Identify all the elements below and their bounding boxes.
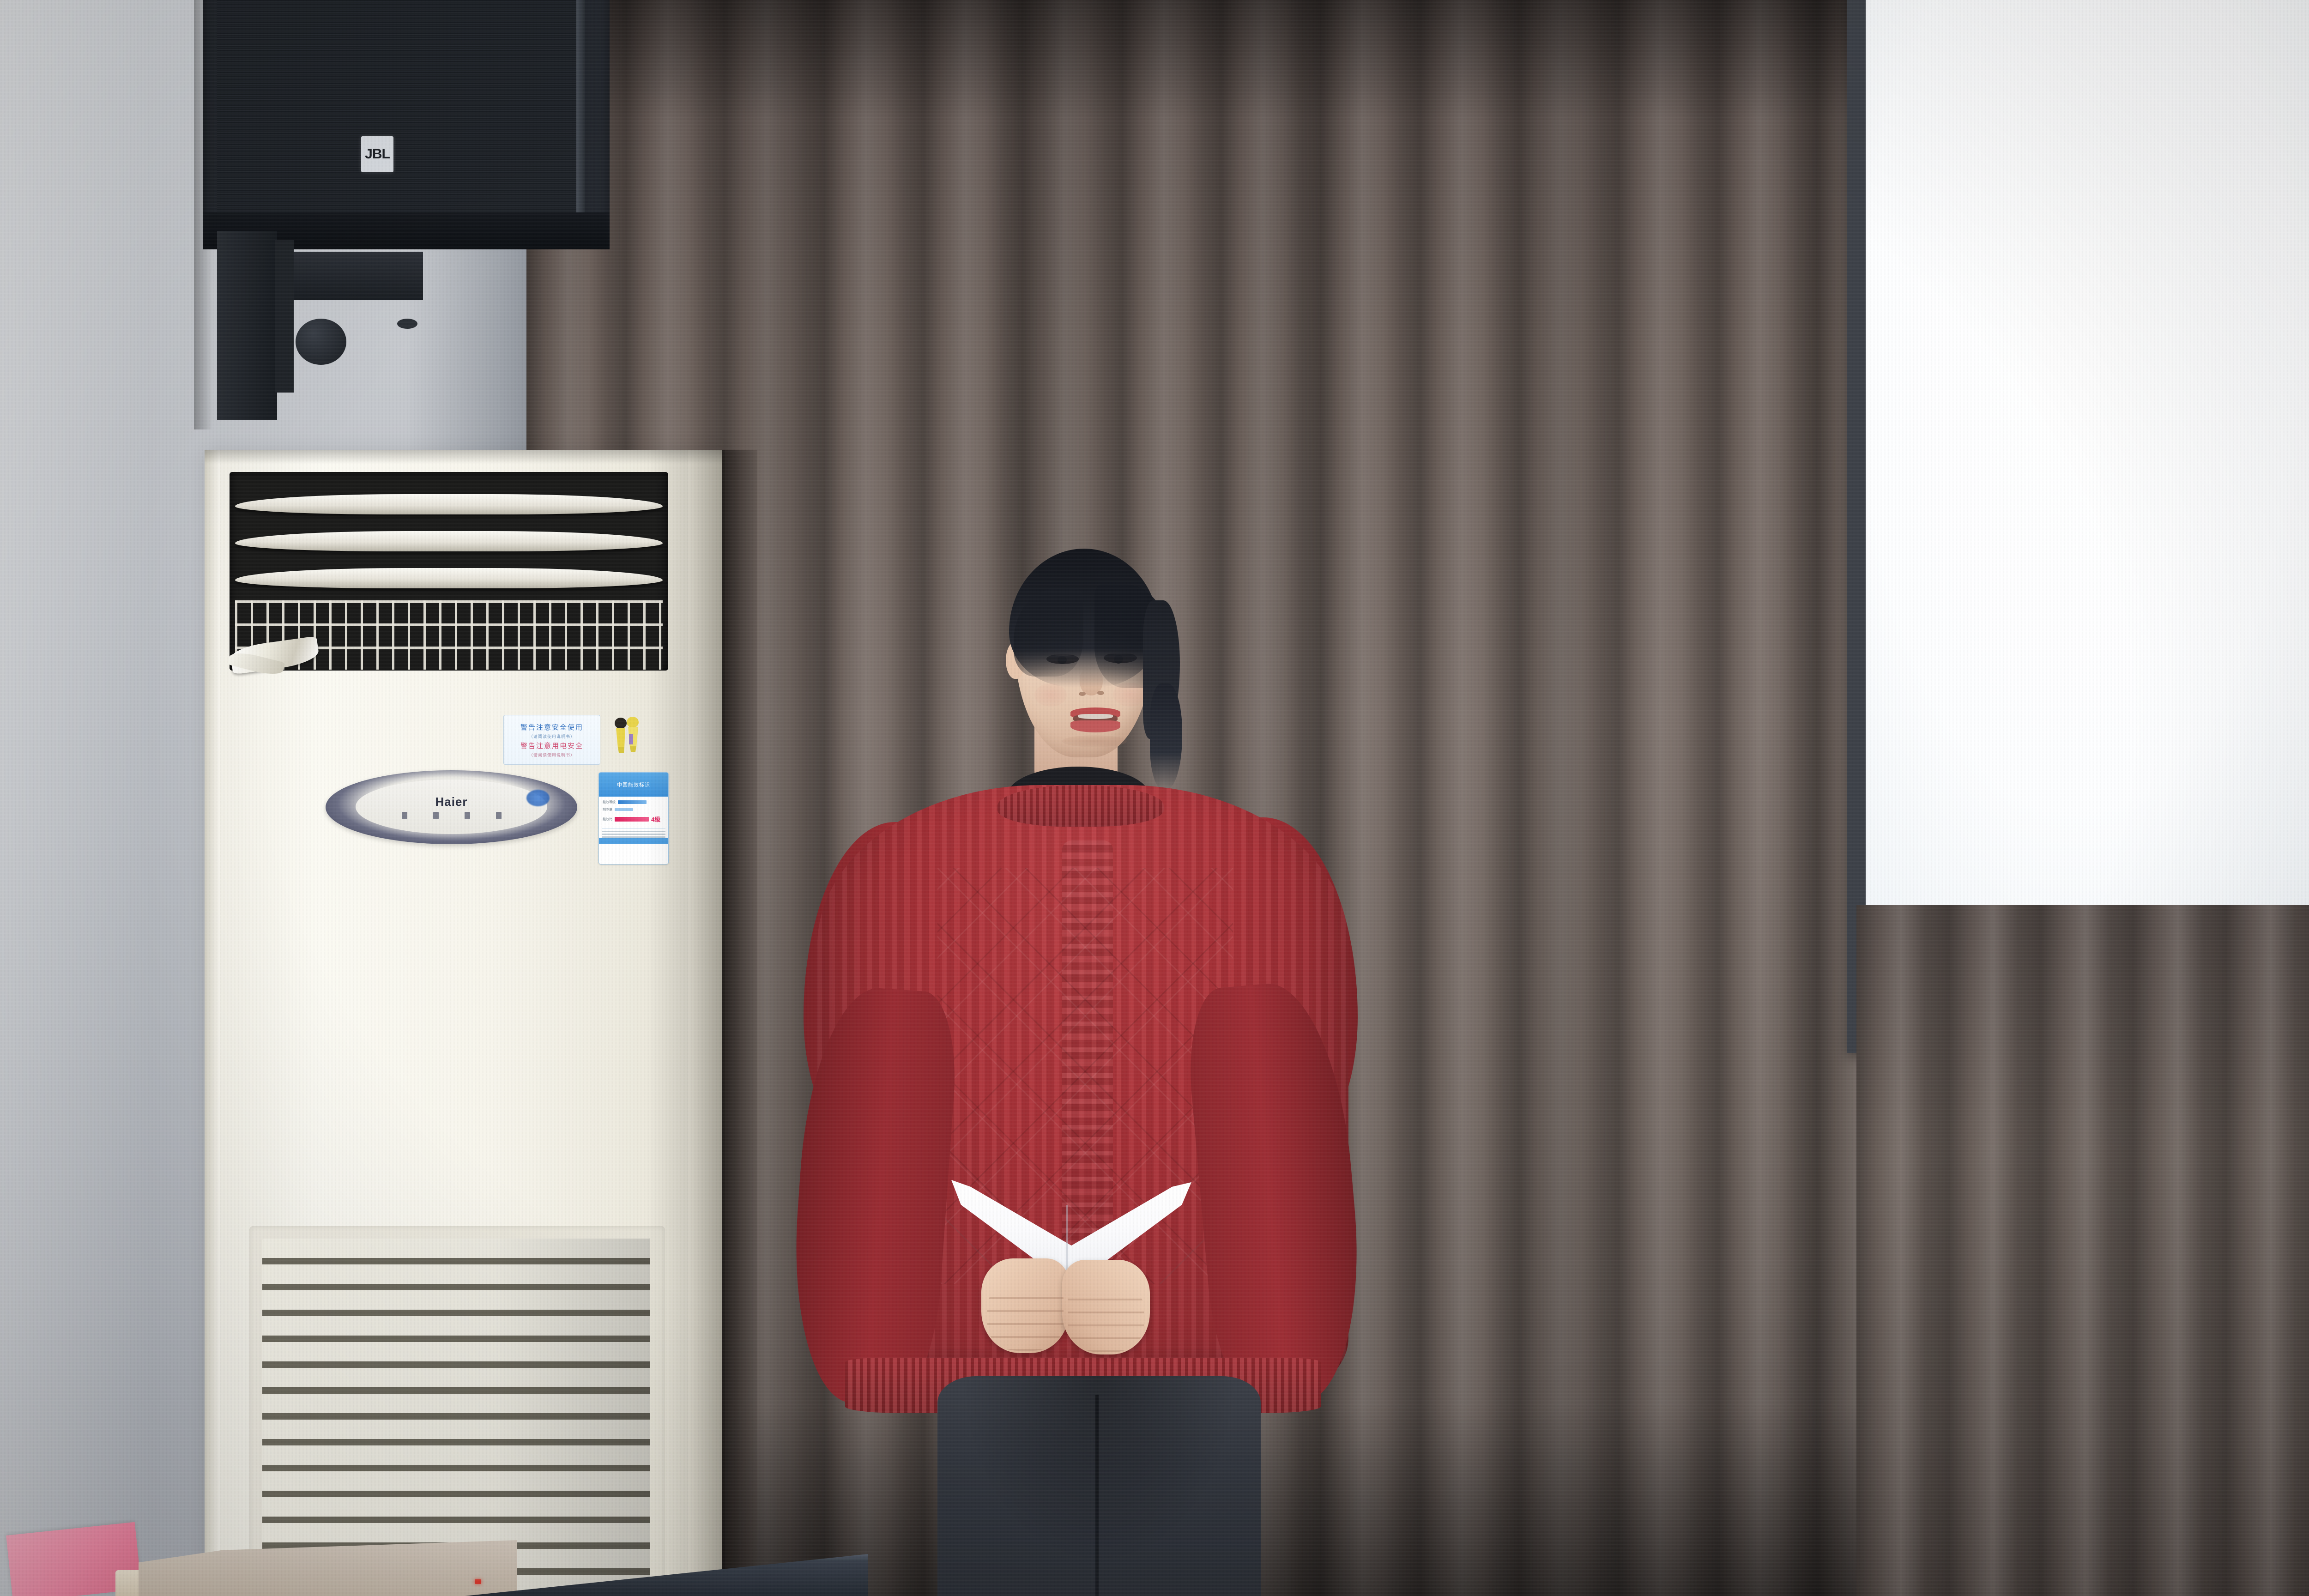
ac-warning-line4: （请阅读使用说明书） xyxy=(529,752,575,758)
curtain-top-shadow xyxy=(526,0,1880,120)
energy-row1-label: 能效等级 xyxy=(603,800,616,804)
speaker-mount-plate xyxy=(217,231,277,420)
haier-brand-label: Haier xyxy=(435,795,467,809)
ac-body-side-shadow xyxy=(647,450,725,1596)
speaker-right-edge xyxy=(576,0,585,217)
ac-panel-button[interactable] xyxy=(496,812,502,819)
ac-panel-button[interactable] xyxy=(465,812,470,819)
ac-warning-line3: 警告注意用电安全 xyxy=(520,741,583,750)
trousers-shadow xyxy=(937,1376,1261,1596)
ac-curtain-gap-shadow xyxy=(720,450,757,1596)
energy-bar-blue-small xyxy=(615,808,633,811)
ac-warning-line2: （请阅读使用说明书） xyxy=(529,733,575,739)
ac-warning-line1: 警告注意安全使用 xyxy=(520,722,583,732)
ac-louver[interactable] xyxy=(235,494,663,514)
ac-left-edge xyxy=(205,450,220,1596)
ac-louver[interactable] xyxy=(235,568,663,588)
ac-top-shadow xyxy=(205,450,722,464)
nostril-right xyxy=(1097,691,1104,695)
speaker-mount-arm xyxy=(275,252,423,300)
energy-row2-label: 制冷量 xyxy=(603,807,612,812)
speaker-mount-knob xyxy=(296,319,346,365)
ac-panel-button[interactable] xyxy=(433,812,439,819)
curtain-below-screen xyxy=(1856,905,2309,1596)
wall-highlight xyxy=(0,0,152,1596)
presenter xyxy=(785,545,1432,1596)
chin-shadow xyxy=(1062,735,1127,747)
ac-panel-indicator-led xyxy=(526,790,550,806)
ac-louver[interactable] xyxy=(235,531,663,551)
sweater-neck-ribbing xyxy=(997,785,1164,827)
speaker-mount-vertical xyxy=(275,240,294,393)
jbl-logo-text: JBL xyxy=(365,146,390,162)
jbl-logo: JBL xyxy=(361,136,393,172)
ac-control-panel[interactable]: Haier xyxy=(356,780,547,834)
ac-mascot-sticker xyxy=(609,715,646,756)
fingers-right xyxy=(1068,1288,1144,1352)
lower-lip xyxy=(1070,720,1120,732)
speaker-grille xyxy=(217,0,582,217)
energy-bar-pink xyxy=(615,817,649,822)
energy-bar-blue xyxy=(618,800,647,804)
nostril-left xyxy=(1079,692,1086,696)
ac-warning-sticker: 警告注意安全使用 （请阅读使用说明书） 警告注意用电安全 （请阅读使用说明书） xyxy=(503,715,600,765)
energy-label-header-text: 中国能效标识 xyxy=(617,781,650,788)
projection-screen-glow xyxy=(1866,0,2309,1025)
photo-scene: JBL 警告注意安全使用 （请阅读使用说明书） 警告注意用电安全 （请阅读使用说… xyxy=(0,0,2309,1596)
ac-panel-button[interactable] xyxy=(402,812,407,819)
cheek-left xyxy=(1034,683,1067,707)
hair-ponytail xyxy=(1150,683,1182,790)
speaker-mount-screw xyxy=(397,319,417,329)
energy-row3-label: 能效比 xyxy=(603,817,612,822)
fingers-left xyxy=(987,1286,1064,1351)
laptop-indicator-led xyxy=(475,1579,481,1584)
teeth xyxy=(1078,714,1113,719)
ac-button-row[interactable] xyxy=(402,812,502,819)
